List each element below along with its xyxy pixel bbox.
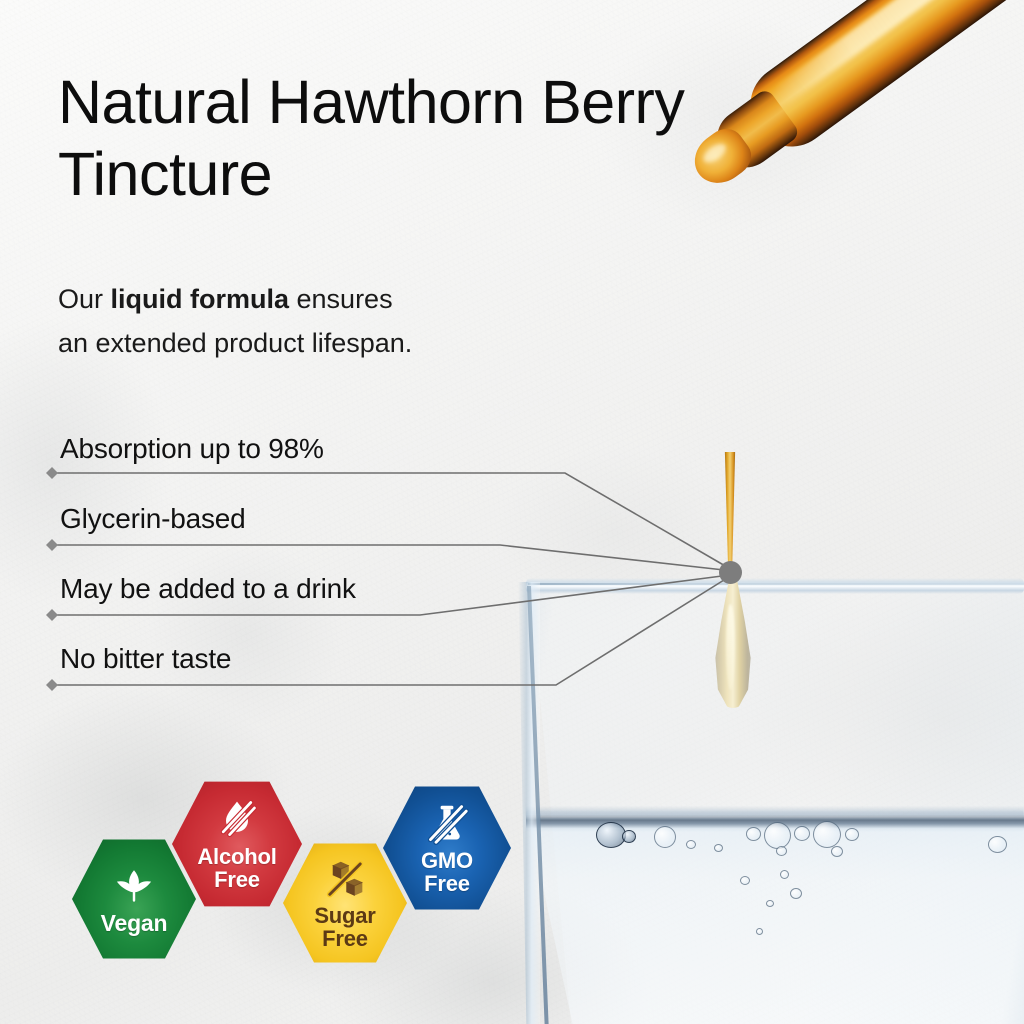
badge-label: GMO Free (421, 850, 473, 895)
converge-point-dot (719, 561, 742, 584)
badge-label: Alcohol Free (197, 846, 276, 891)
diamond-marker-3 (46, 679, 58, 691)
page-title: Natural Hawthorn Berry Tincture (58, 66, 958, 210)
no-gmo-flask-icon (425, 801, 469, 845)
badge-label: Sugar Free (314, 905, 375, 950)
subtitle-bold: liquid formula (111, 284, 290, 314)
feature-label-3: No bitter taste (60, 643, 231, 675)
diamond-marker-1 (46, 539, 58, 551)
feature-label-1: Glycerin-based (60, 503, 246, 535)
diamond-marker-2 (46, 609, 58, 621)
connector-line-1 (52, 545, 724, 570)
subtitle-before: Our (58, 284, 111, 314)
subtitle: Our liquid formula ensures an extended p… (58, 277, 618, 365)
no-alcohol-drop-icon (215, 797, 259, 841)
feature-label-2: May be added to a drink (60, 573, 356, 605)
promo-graphic: Natural Hawthorn Berry Tincture Our liqu… (0, 0, 1024, 1024)
feature-label-0: Absorption up to 98% (60, 433, 324, 465)
no-sugar-cubes-icon (323, 856, 367, 900)
badge-label: Vegan (101, 912, 168, 935)
leaf-icon (113, 863, 155, 907)
diamond-marker-0 (46, 467, 58, 479)
